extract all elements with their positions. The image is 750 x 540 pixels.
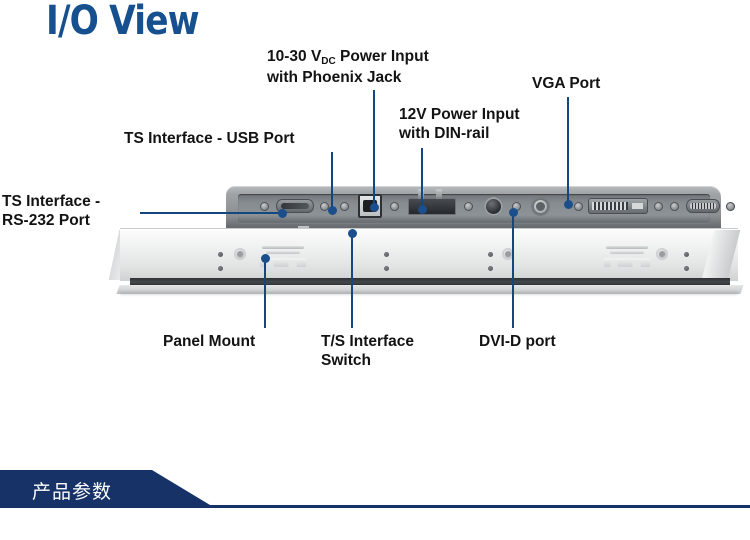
dc-barrel-jack-icon xyxy=(484,197,503,216)
leader-line-panel-mount xyxy=(264,258,266,328)
leader-dot-vga xyxy=(564,200,573,209)
dvi-d-connector-icon xyxy=(588,198,648,214)
drop-shadow xyxy=(120,292,738,296)
callout-text: with Phoenix Jack xyxy=(267,68,429,87)
chassis-hole xyxy=(488,266,493,271)
callout-ts-usb-port: TS Interface - USB Port xyxy=(124,129,295,148)
gear-icon xyxy=(532,198,549,215)
chassis-hole xyxy=(684,266,689,271)
leader-line-dvi xyxy=(512,212,514,328)
chassis-screw xyxy=(656,248,668,260)
panel-screw-hole xyxy=(574,202,583,211)
callout-text: 10-30 V xyxy=(267,48,321,65)
callout-text: with DIN-rail xyxy=(399,124,520,143)
callout-dvi-d-port: DVI-D port xyxy=(479,332,556,351)
callout-subscript: DC xyxy=(321,56,335,67)
leader-line-ts-switch xyxy=(351,234,353,328)
callout-text: Switch xyxy=(321,351,414,370)
chassis-hole xyxy=(384,252,389,257)
section-banner-label: 产品参数 xyxy=(32,477,112,504)
panel-screw-hole xyxy=(390,202,399,211)
leader-dot-rs232 xyxy=(278,209,287,218)
page-title: I/O View xyxy=(46,0,199,44)
leader-dot-panel-mount xyxy=(261,254,270,263)
leader-dot-dvi xyxy=(509,208,518,217)
callout-text: DVI-D port xyxy=(479,332,556,351)
leader-line-din xyxy=(421,148,423,210)
callout-text: TS Interface - xyxy=(2,192,100,211)
callout-text: Panel Mount xyxy=(163,332,255,351)
section-banner-rule xyxy=(172,505,750,508)
callout-text: RS-232 Port xyxy=(2,211,100,230)
leader-dot-din xyxy=(418,205,427,214)
vga-connector-icon xyxy=(686,199,720,213)
leader-dot-usb xyxy=(328,206,337,215)
leader-line-rs232 xyxy=(140,212,282,214)
callout-vga-port: VGA Port xyxy=(532,74,600,93)
panel-screw-hole xyxy=(464,202,473,211)
leader-line-usb xyxy=(331,152,333,212)
phoenix-jack-connector-icon xyxy=(408,198,456,215)
leader-line-phoenix xyxy=(373,90,375,208)
page-root: I/O View xyxy=(0,0,750,540)
callout-text: VGA Port xyxy=(532,74,600,93)
panel-screw-hole xyxy=(260,202,269,211)
chassis-hole xyxy=(488,252,493,257)
leader-dot-phoenix xyxy=(370,203,379,212)
callout-ts-interface-switch: T/S Interface Switch xyxy=(321,332,414,370)
callout-text: Power Input xyxy=(336,48,429,65)
chassis-hole xyxy=(218,252,223,257)
callout-ts-rs232-port: TS Interface - RS-232 Port xyxy=(2,192,100,230)
leader-dot-ts-switch xyxy=(348,229,357,238)
chassis-hole xyxy=(218,266,223,271)
callout-power-input-phoenix: 10-30 VDC Power Input with Phoenix Jack xyxy=(267,47,429,87)
panel-screw-hole xyxy=(654,202,663,211)
callout-text: 12V Power Input xyxy=(399,105,520,124)
panel-mount-clip xyxy=(604,246,650,272)
callout-panel-mount: Panel Mount xyxy=(163,332,255,351)
leader-line-vga xyxy=(567,97,569,205)
chassis-hole xyxy=(384,266,389,271)
callout-power-input-din: 12V Power Input with DIN-rail xyxy=(399,105,520,143)
panel-screw-hole xyxy=(340,202,349,211)
callout-text: TS Interface - USB Port xyxy=(124,129,295,148)
callout-text: T/S Interface xyxy=(321,332,414,351)
chassis-screw xyxy=(234,248,246,260)
chassis-hole xyxy=(684,252,689,257)
panel-screw-hole xyxy=(726,202,735,211)
panel-screw-hole xyxy=(670,202,679,211)
